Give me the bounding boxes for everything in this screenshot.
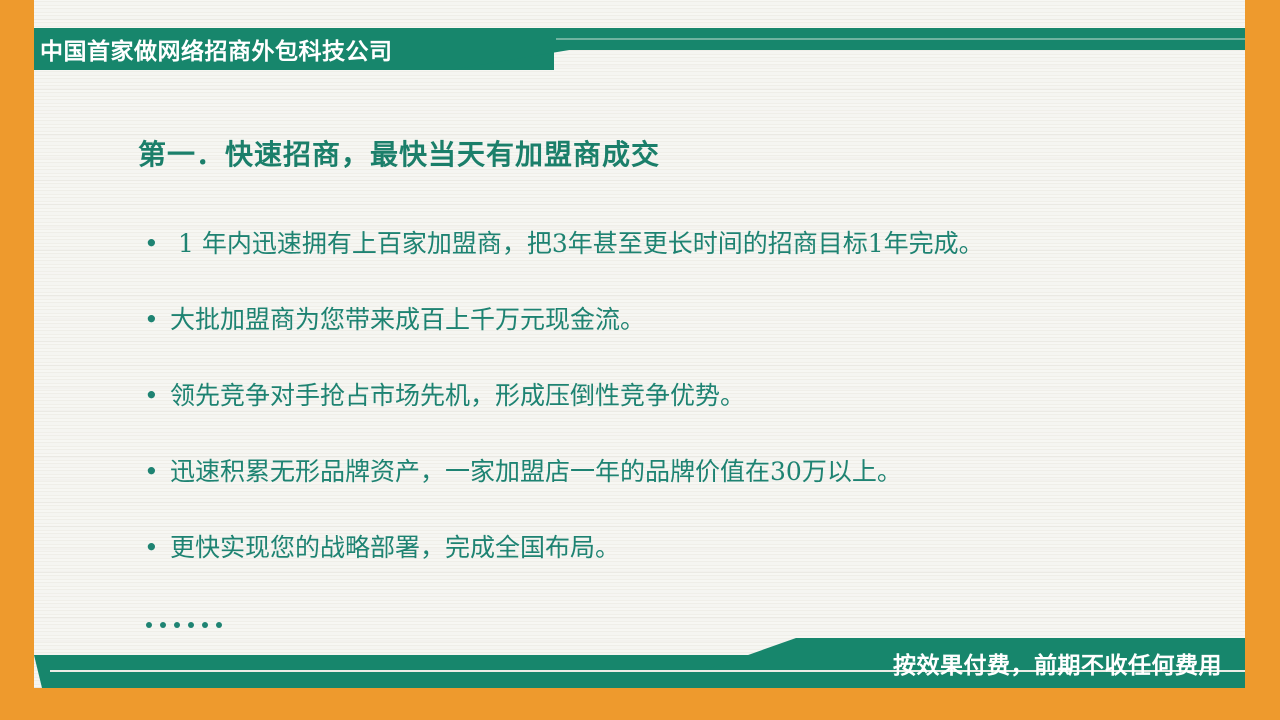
list-item: • 更快实现您的战略部署，完成全国布局。 — [144, 532, 1214, 608]
list-item-text: 领先竞争对手抢占市场先机，形成压倒性竞争优势。 — [170, 380, 1214, 412]
list-item: • 大批加盟商为您带来成百上千万元现金流。 — [144, 304, 1214, 380]
header-hairline — [556, 38, 1245, 40]
list-item: • 迅速积累无形品牌资产，一家加盟店一年的品牌价值在30万以上。 — [144, 456, 1214, 532]
bullet-marker-icon: • — [144, 380, 170, 412]
bullet-list: • 1 年内迅速拥有上百家加盟商，把3年甚至更长时间的招商目标1年完成。 • 大… — [144, 228, 1214, 608]
list-item: • 1 年内迅速拥有上百家加盟商，把3年甚至更长时间的招商目标1年完成。 — [144, 228, 1214, 304]
list-item-text: 1 年内迅速拥有上百家加盟商，把3年甚至更长时间的招商目标1年完成。 — [170, 228, 1214, 260]
ellipsis-dot-icon — [146, 622, 152, 628]
ellipsis-dot-icon — [216, 622, 222, 628]
ellipsis-dot-icon — [160, 622, 166, 628]
bullet-marker-icon: • — [144, 304, 170, 336]
ellipsis-dot-icon — [188, 622, 194, 628]
list-item: • 领先竞争对手抢占市场先机，形成压倒性竞争优势。 — [144, 380, 1214, 456]
list-item-text: 大批加盟商为您带来成百上千万元现金流。 — [170, 304, 1214, 336]
list-item-text: 迅速积累无形品牌资产，一家加盟店一年的品牌价值在30万以上。 — [170, 456, 1214, 488]
ellipsis-dot-icon — [202, 622, 208, 628]
ellipsis-dot-icon — [174, 622, 180, 628]
bullet-marker-icon: • — [144, 228, 170, 260]
footer-tagline: 按效果付费，前期不收任何费用 — [893, 638, 1222, 688]
continuation-ellipsis — [146, 622, 222, 628]
bullet-marker-icon: • — [144, 532, 170, 564]
page-title: 第一．快速招商，最快当天有加盟商成交 — [138, 133, 660, 173]
bullet-marker-icon: • — [144, 456, 170, 488]
slide-root: 中国首家做网络招商外包科技公司 第一．快速招商，最快当天有加盟商成交 • 1 年… — [0, 0, 1280, 720]
list-item-text: 更快实现您的战略部署，完成全国布局。 — [170, 532, 1214, 564]
header-title: 中国首家做网络招商外包科技公司 — [34, 28, 534, 70]
header-title-label: 中国首家做网络招商外包科技公司 — [34, 32, 393, 66]
